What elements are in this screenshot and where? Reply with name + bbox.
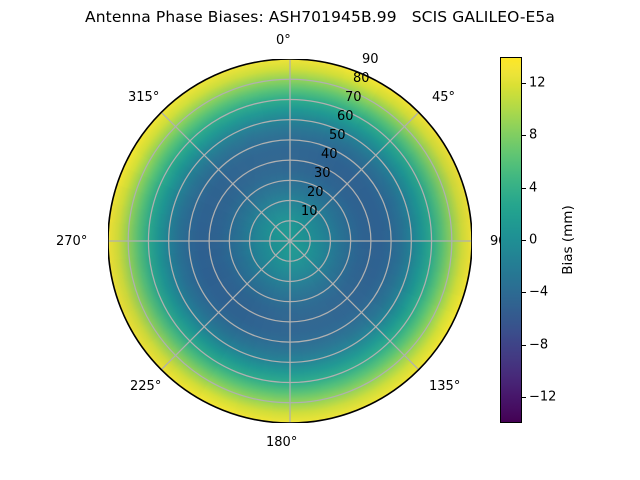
colorbar-axis-label: Bias (mm)	[560, 205, 576, 274]
r-tick-90: 90	[362, 52, 379, 67]
colorbar-tick-mark	[522, 83, 526, 84]
polar-axes[interactable]: 0° 45° 90° 135° 180° 225° 270° 315° 10 2…	[108, 59, 472, 423]
colorbar-tick-mark	[522, 188, 526, 189]
r-tick-50: 50	[329, 128, 346, 143]
colorbar[interactable]: 12840−4−8−12	[500, 57, 522, 423]
r-tick-60: 60	[337, 109, 354, 124]
colorbar-tick-mark	[522, 397, 526, 398]
r-tick-10: 10	[301, 204, 318, 219]
colorbar-tick-mark	[522, 240, 526, 241]
colorbar-tick-mark	[522, 345, 526, 346]
r-tick-80: 80	[353, 71, 370, 86]
r-tick-70: 70	[345, 90, 362, 105]
theta-tick-135: 135°	[429, 379, 460, 394]
r-tick-30: 30	[314, 166, 331, 181]
r-tick-40: 40	[321, 147, 338, 162]
theta-tick-0: 0°	[276, 33, 291, 48]
colorbar-tick-label: 12	[529, 76, 546, 91]
theta-tick-270: 270°	[56, 234, 87, 249]
colorbar-tick-mark	[522, 292, 526, 293]
colorbar-tick-label: −4	[529, 285, 548, 300]
colorbar-tick-label: 4	[529, 180, 537, 195]
polar-grid	[108, 59, 472, 423]
colorbar-tick-label: −8	[529, 337, 548, 352]
colorbar-tick-label: −12	[529, 389, 556, 404]
theta-tick-45: 45°	[432, 90, 455, 105]
colorbar-tick-label: 8	[529, 128, 537, 143]
colorbar-gradient	[500, 57, 522, 423]
theta-tick-180: 180°	[266, 435, 297, 450]
theta-tick-315: 315°	[128, 90, 159, 105]
polar-plot-svg	[108, 59, 472, 423]
figure-canvas: Antenna Phase Biases: ASH701945B.99 SCIS…	[0, 0, 640, 480]
colorbar-tick-label: 0	[529, 233, 537, 248]
theta-tick-225: 225°	[130, 379, 161, 394]
colorbar-tick-mark	[522, 135, 526, 136]
r-tick-20: 20	[307, 185, 324, 200]
page-title: Antenna Phase Biases: ASH701945B.99 SCIS…	[0, 8, 640, 26]
